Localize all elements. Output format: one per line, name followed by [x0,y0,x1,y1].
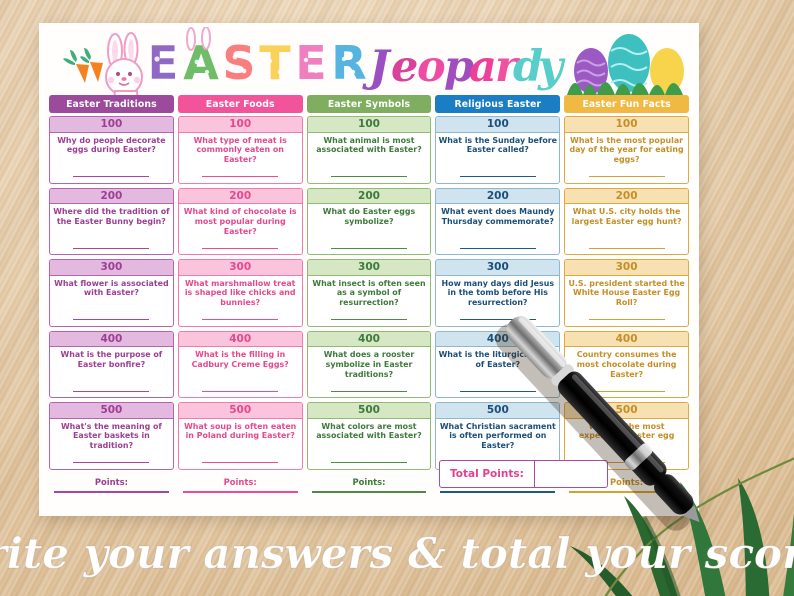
decorated-eggs-icon [567,34,684,95]
card-question: What is the purpose of Easter bonfire? [50,347,173,385]
question-card[interactable]: 200What do Easter eggs symbolize? [307,188,432,256]
question-card[interactable]: 300How many days did Jesus in the tomb b… [435,259,560,327]
category-header-3[interactable]: Easter Symbols [307,95,432,113]
question-card[interactable]: 500What soup is often eaten in Poland du… [178,402,303,470]
printable-sheet: E E A S T E R [39,23,699,516]
points-label: Points: [49,477,174,487]
board-column-5: Easter Fun Facts100What is the most popu… [564,95,689,493]
card-value: 400 [179,332,302,348]
answer-write-line[interactable] [436,385,559,397]
card-value: 500 [50,403,173,419]
question-card[interactable]: 100What animal is most associated with E… [307,116,432,184]
total-points-row: Total Points: [439,460,608,488]
card-question: What animal is most associated with East… [308,133,431,171]
question-card[interactable]: 100Why do people decorate eggs during Ea… [49,116,174,184]
question-card[interactable]: 300What flower is associated with Easter… [49,259,174,327]
title-banner: E E A S T E R [39,27,699,95]
answer-write-line[interactable] [308,171,431,183]
question-card[interactable]: 100What is the Sunday before Easter call… [435,116,560,184]
card-value: 100 [436,117,559,133]
card-value: 200 [179,189,302,205]
card-value: 500 [308,403,431,419]
card-value: 300 [308,260,431,276]
points-write-line[interactable] [312,491,427,493]
question-card[interactable]: 500What colors are most associated with … [307,402,432,470]
answer-write-line[interactable] [179,314,302,326]
question-card[interactable]: 400What is the filling in Cadbury Creme … [178,331,303,399]
card-value: 200 [308,189,431,205]
answer-write-line[interactable] [50,242,173,254]
question-card[interactable]: 100What type of meat is commonly eaten o… [178,116,303,184]
card-question: What is the most popular day of the year… [565,133,688,171]
card-value: 300 [436,260,559,276]
svg-text:S: S [222,36,255,90]
answer-write-line[interactable] [308,314,431,326]
answer-write-line[interactable] [436,314,559,326]
card-question: What is the liturgical color of Easter? [436,347,559,385]
answer-write-line[interactable] [179,171,302,183]
answer-write-line[interactable] [50,171,173,183]
bunny-icon [106,33,142,95]
answer-write-line[interactable] [179,385,302,397]
board-column-4: Religious Easter100What is the Sunday be… [435,95,560,493]
card-value: 200 [436,189,559,205]
answer-write-line[interactable] [436,242,559,254]
card-question: Why do people decorate eggs during Easte… [50,133,173,171]
question-card[interactable]: 300What insect is often seen as a symbol… [307,259,432,327]
answer-write-line[interactable] [565,242,688,254]
question-card[interactable]: 500What's the meaning of Easter baskets … [49,402,174,470]
card-question: What event does Maundy Thursday commemor… [436,204,559,242]
answer-write-line[interactable] [308,385,431,397]
points-label: Points: [307,477,432,487]
card-value: 400 [565,332,688,348]
card-value: 200 [50,189,173,205]
card-question: Country consumes the most chocolate duri… [565,347,688,385]
card-value: 400 [308,332,431,348]
answer-write-line[interactable] [565,314,688,326]
card-question: What soup is often eaten in Poland durin… [179,419,302,457]
card-question: U.S. president started the White House E… [565,276,688,314]
card-value: 500 [436,403,559,419]
bottom-caption: Write your answers & total your scores [0,520,794,590]
answer-write-line[interactable] [565,171,688,183]
svg-text:T: T [259,36,291,90]
card-question: What flower is associated with Easter? [50,276,173,314]
card-value: 300 [179,260,302,276]
question-card[interactable]: 200What U.S. city holds the largest East… [564,188,689,256]
svg-text:o: o [417,42,446,92]
card-value: 300 [50,260,173,276]
card-value: 300 [565,260,688,276]
card-value: 100 [308,117,431,133]
points-label: Points: [178,477,303,487]
svg-text:E: E [295,36,326,90]
card-question: Where did the tradition of the Easter Bu… [50,204,173,242]
svg-text:E: E [147,36,178,90]
card-question: What Christian sacrament is often perfor… [436,419,559,457]
answer-write-line[interactable] [565,385,688,397]
card-question: What insect is often seen as a symbol of… [308,276,431,314]
answer-write-line[interactable] [308,457,431,469]
answer-write-line[interactable] [179,242,302,254]
board-column-2: Easter Foods100What type of meat is comm… [178,95,303,493]
card-question: What U.S. city holds the largest Easter … [565,204,688,242]
total-points-box: Total Points: [439,460,608,488]
card-value: 100 [50,117,173,133]
svg-text:a: a [469,42,497,92]
question-card[interactable]: 300What marshmallow treat is shaped like… [178,259,303,327]
card-question: What is the Sunday before Easter called? [436,133,559,171]
question-card[interactable]: 100What is the most popular day of the y… [564,116,689,184]
question-card[interactable]: 200Where did the tradition of the Easter… [49,188,174,256]
card-value: 400 [436,332,559,348]
answer-write-line[interactable] [308,242,431,254]
card-question: What's the meaning of Easter baskets in … [50,419,173,457]
answer-write-line[interactable] [50,457,173,469]
card-value: 100 [179,117,302,133]
answer-write-line[interactable] [50,385,173,397]
board-column-1: Easter Traditions100Why do people decora… [49,95,174,493]
jeopardy-board: Easter Traditions100Why do people decora… [39,95,699,493]
card-question: What type of meat is commonly eaten on E… [179,133,302,171]
card-question: What is the filling in Cadbury Creme Egg… [179,347,302,385]
card-question: What do Easter eggs symbolize? [308,204,431,242]
question-card[interactable]: 200What kind of chocolate is most popula… [178,188,303,256]
svg-text:y: y [537,42,566,92]
svg-text:e: e [391,42,418,92]
card-question: What kind of chocolate is most popular d… [179,204,302,242]
card-question: What does a rooster symbolize in Easter … [308,347,431,385]
question-card[interactable]: 400What does a rooster symbolize in East… [307,331,432,399]
category-header-1[interactable]: Easter Traditions [49,95,174,113]
card-question: What is the most expensive Easter egg ev… [565,419,688,457]
card-question: How many days did Jesus in the tomb befo… [436,276,559,314]
category-header-4[interactable]: Religious Easter [435,95,560,113]
points-write-line[interactable] [54,491,169,493]
card-question: What colors are most associated with Eas… [308,419,431,457]
question-card[interactable]: 300U.S. president started the White Hous… [564,259,689,327]
question-card[interactable]: 400What is the liturgical color of Easte… [435,331,560,399]
total-points-input[interactable] [535,461,607,487]
card-value: 400 [50,332,173,348]
answer-write-line[interactable] [436,171,559,183]
card-value: 100 [565,117,688,133]
card-value: 500 [179,403,302,419]
answer-write-line[interactable] [50,314,173,326]
caption-text: Write your answers & total your scores [0,529,794,578]
question-card[interactable]: 400What is the purpose of Easter bonfire… [49,331,174,399]
points-write-line[interactable] [440,491,555,493]
board-column-3: Easter Symbols100What animal is most ass… [307,95,432,493]
card-value: 500 [565,403,688,419]
category-header-2[interactable]: Easter Foods [178,95,303,113]
points-write-line[interactable] [569,491,684,493]
category-header-5[interactable]: Easter Fun Facts [564,95,689,113]
question-card[interactable]: 200What event does Maundy Thursday comme… [435,188,560,256]
points-write-line[interactable] [183,491,298,493]
question-card[interactable]: 400Country consumes the most chocolate d… [564,331,689,399]
total-points-label: Total Points: [440,461,535,487]
carrots-icon [63,48,103,83]
card-value: 200 [565,189,688,205]
svg-text:R: R [331,36,366,90]
answer-write-line[interactable] [179,457,302,469]
card-question: What marshmallow treat is shaped like ch… [179,276,302,314]
